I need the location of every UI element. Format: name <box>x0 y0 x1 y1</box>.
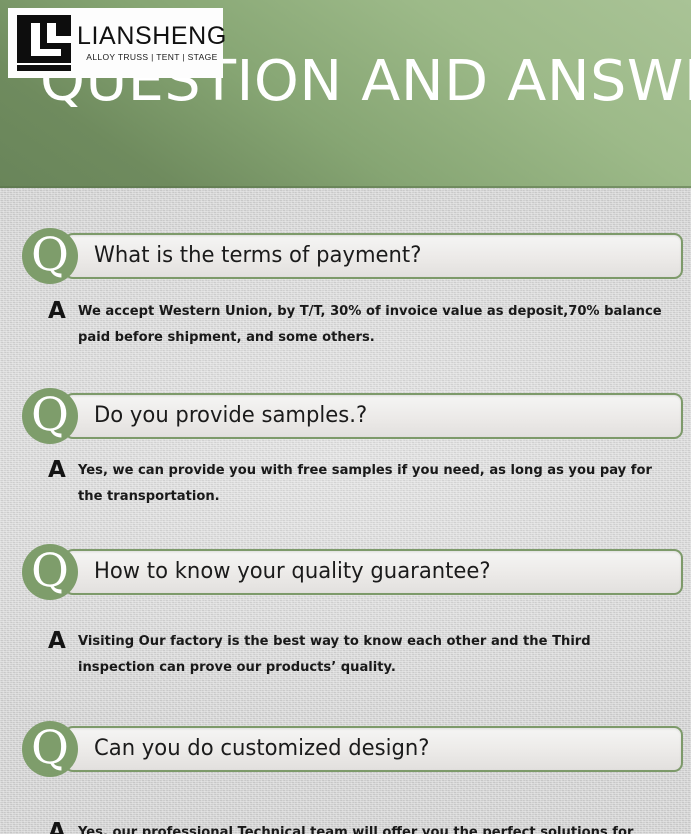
question-box[interactable]: Do you provide samples.? <box>64 393 683 439</box>
question-text: Can you do customized design? <box>94 737 429 761</box>
answer-text: Yes, we can provide you with free sample… <box>78 457 667 509</box>
answer-row: A Yes, we can provide you with free samp… <box>0 457 691 509</box>
faq-item: Q Can you do customized design? A Yes, o… <box>0 680 691 834</box>
faq-item: Q How to know your quality guarantee? A … <box>0 509 691 680</box>
answer-badge: A <box>48 298 78 324</box>
answer-badge: A <box>48 628 78 654</box>
faq-item: Q Do you provide samples.? A Yes, we can… <box>0 350 691 509</box>
answer-row: A Visiting Our factory is the best way t… <box>0 628 691 680</box>
answer-row: A We accept Western Union, by T/T, 30% o… <box>0 298 691 350</box>
question-box[interactable]: Can you do customized design? <box>64 726 683 772</box>
ls-monogram-icon <box>17 15 71 71</box>
faq-list: Q What is the terms of payment? A We acc… <box>0 188 691 834</box>
question-row: Q What is the terms of payment? <box>0 228 691 284</box>
logo-text-group: LIANSHENG ALLOY TRUSS | TENT | STAGE <box>77 23 227 63</box>
faq-item: Q What is the terms of payment? A We acc… <box>0 188 691 350</box>
question-badge: Q <box>22 228 78 284</box>
question-text: Do you provide samples.? <box>94 404 367 428</box>
answer-row: A Yes, our professional Technical team w… <box>0 819 691 834</box>
logo-wordmark: LIANSHENG <box>77 23 227 50</box>
question-badge: Q <box>22 721 78 777</box>
answer-text: We accept Western Union, by T/T, 30% of … <box>78 298 667 350</box>
company-logo: LIANSHENG ALLOY TRUSS | TENT | STAGE <box>8 8 223 78</box>
question-row: Q How to know your quality guarantee? <box>0 544 691 600</box>
answer-text: Visiting Our factory is the best way to … <box>78 628 667 680</box>
question-row: Q Can you do customized design? <box>0 721 691 777</box>
answer-badge: A <box>48 819 78 834</box>
answer-text: Yes, our professional Technical team wil… <box>78 819 667 834</box>
answer-badge: A <box>48 457 78 483</box>
question-badge: Q <box>22 388 78 444</box>
question-text: How to know your quality guarantee? <box>94 560 491 584</box>
question-text: What is the terms of payment? <box>94 244 421 268</box>
question-badge: Q <box>22 544 78 600</box>
question-row: Q Do you provide samples.? <box>0 388 691 444</box>
question-box[interactable]: How to know your quality guarantee? <box>64 549 683 595</box>
question-box[interactable]: What is the terms of payment? <box>64 233 683 279</box>
logo-tagline: ALLOY TRUSS | TENT | STAGE <box>86 52 217 63</box>
